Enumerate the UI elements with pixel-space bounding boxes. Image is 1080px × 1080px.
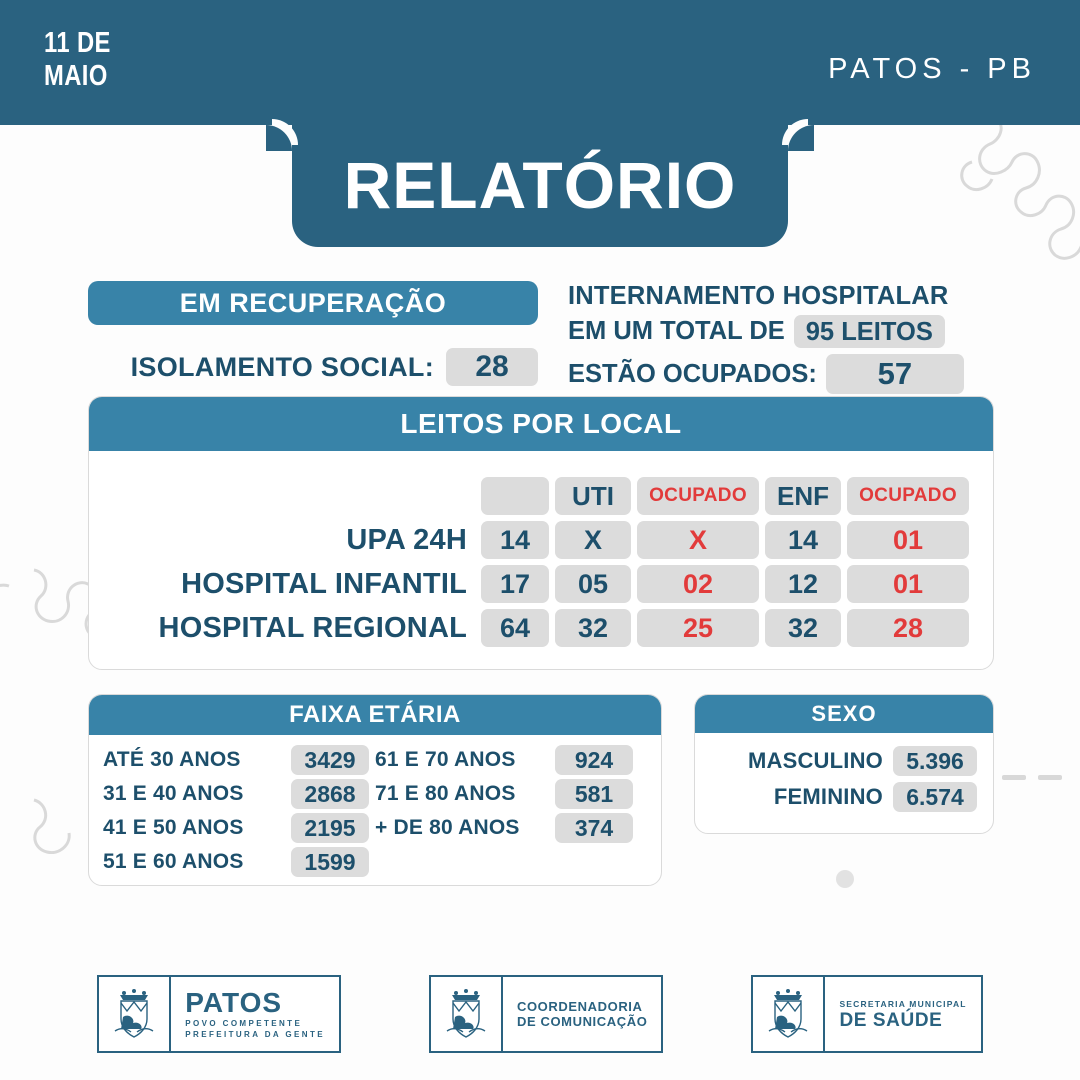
age-value: 2868 — [291, 779, 369, 809]
sex-value-feminino: 6.574 — [893, 782, 977, 812]
list-item: ATÉ 30 ANOS 3429 — [103, 743, 375, 777]
coat-of-arms-icon — [99, 977, 171, 1051]
coat-of-arms-icon — [431, 977, 503, 1051]
cell-enf: 32 — [765, 609, 841, 647]
col-enf-header: ENF — [765, 477, 841, 515]
logo-line-1: SECRETARIA MUNICIPAL — [839, 998, 966, 1010]
age-column-right: 61 E 70 ANOS 924 71 E 80 ANOS 581 + DE 8… — [375, 743, 647, 879]
cell-uti: 32 — [555, 609, 631, 647]
table-row: UPA 24H 14 X X 14 01 — [159, 521, 969, 559]
hospital-admission-block: INTERNAMENTO HOSPITALAR EM UM TOTAL DE 9… — [568, 281, 988, 394]
hospital-total-value: 95 LEITOS — [794, 315, 945, 348]
recovery-header: EM RECUPERAÇÃO — [88, 281, 538, 325]
report-date: 11 DE MAIO — [44, 27, 111, 93]
cell-uti: X — [555, 521, 631, 559]
footer-logos: PATOS POVO COMPETENTE PREFEITURA DA GENT… — [0, 975, 1080, 1053]
list-item: 71 E 80 ANOS 581 — [375, 777, 647, 811]
age-value: 1599 — [291, 847, 369, 877]
city-label: PATOS - PB — [828, 53, 1036, 86]
sex-card-title: SEXO — [695, 695, 993, 733]
cell-enf-ocupado: 01 — [847, 565, 969, 603]
cell-uti-ocupado: 25 — [637, 609, 759, 647]
hospital-occupied-label: ESTÃO OCUPADOS: — [568, 360, 817, 389]
coat-of-arms-icon — [753, 977, 825, 1051]
hospital-admission-title: INTERNAMENTO HOSPITALAR — [568, 281, 988, 311]
logo-line-1: COORDENADORIA — [517, 999, 643, 1014]
sex-label-feminino: FEMININO — [774, 784, 883, 810]
table-header-row: UTI OCUPADO ENF OCUPADO — [159, 477, 969, 515]
logo-prefeitura-patos: PATOS POVO COMPETENTE PREFEITURA DA GENT… — [97, 975, 341, 1053]
logo-tagline-1: POVO COMPETENTE — [185, 1018, 302, 1029]
age-label: 41 E 50 ANOS — [103, 816, 281, 840]
beds-card-title: LEITOS POR LOCAL — [89, 397, 993, 451]
age-value: 2195 — [291, 813, 369, 843]
age-label: 61 E 70 ANOS — [375, 748, 545, 772]
row-label-infantil: HOSPITAL INFANTIL — [159, 565, 475, 603]
report-infographic: 11 DE MAIO PATOS - PB RELATÓRIO EM RECUP… — [0, 0, 1080, 1080]
sex-grid: MASCULINO 5.396 FEMININO 6.574 — [695, 743, 993, 815]
cell-enf-ocupado: 01 — [847, 521, 969, 559]
cell-total: 17 — [481, 565, 549, 603]
cell-enf: 14 — [765, 521, 841, 559]
page-title: RELATÓRIO — [292, 125, 788, 245]
cell-uti-ocupado: 02 — [637, 565, 759, 603]
list-item: 41 E 50 ANOS 2195 — [103, 811, 375, 845]
title-plaque: RELATÓRIO — [292, 125, 788, 247]
list-item: 51 E 60 ANOS 1599 — [103, 845, 375, 879]
list-item: + DE 80 ANOS 374 — [375, 811, 647, 845]
cell-uti-ocupado: X — [637, 521, 759, 559]
cell-enf: 12 — [765, 565, 841, 603]
logo-text-coordenadoria: COORDENADORIA DE COMUNICAÇÃO — [503, 977, 661, 1051]
isolation-value: 28 — [446, 348, 538, 386]
row-label-upa: UPA 24H — [159, 521, 475, 559]
list-item: 31 E 40 ANOS 2868 — [103, 777, 375, 811]
age-label: 71 E 80 ANOS — [375, 782, 545, 806]
logo-text-patos: PATOS POVO COMPETENTE PREFEITURA DA GENT… — [171, 977, 339, 1051]
beds-by-location-card: LEITOS POR LOCAL UTI OCUPADO ENF OCUPADO… — [88, 396, 994, 670]
age-range-card: FAIXA ETÁRIA ATÉ 30 ANOS 3429 31 E 40 AN… — [88, 694, 662, 886]
age-value: 581 — [555, 779, 633, 809]
age-label: 51 E 60 ANOS — [103, 850, 281, 874]
col-total-header — [481, 477, 549, 515]
age-label: ATÉ 30 ANOS — [103, 748, 281, 772]
col-uti-header: UTI — [555, 477, 631, 515]
cell-uti: 05 — [555, 565, 631, 603]
age-label: 31 E 40 ANOS — [103, 782, 281, 806]
age-column-left: ATÉ 30 ANOS 3429 31 E 40 ANOS 2868 41 E … — [103, 743, 375, 879]
table-row: HOSPITAL REGIONAL 64 32 25 32 28 — [159, 609, 969, 647]
hospital-total-label: EM UM TOTAL DE — [568, 317, 785, 346]
table-row: HOSPITAL INFANTIL 17 05 02 12 01 — [159, 565, 969, 603]
cell-enf-ocupado: 28 — [847, 609, 969, 647]
decorative-dot — [836, 870, 854, 888]
age-label: + DE 80 ANOS — [375, 816, 545, 840]
hospital-occupied-value: 57 — [826, 354, 964, 394]
age-value: 3429 — [291, 745, 369, 775]
age-value: 924 — [555, 745, 633, 775]
cell-total: 14 — [481, 521, 549, 559]
logo-coordenadoria-comunicacao: COORDENADORIA DE COMUNICAÇÃO — [429, 975, 663, 1053]
isolation-label: ISOLAMENTO SOCIAL: — [131, 352, 434, 383]
age-grid: ATÉ 30 ANOS 3429 31 E 40 ANOS 2868 41 E … — [89, 743, 661, 879]
logo-line-2: DE SAÚDE — [839, 1010, 942, 1031]
cell-total: 64 — [481, 609, 549, 647]
decorative-dashes — [1002, 775, 1062, 780]
top-bar: 11 DE MAIO PATOS - PB — [0, 0, 1080, 125]
logo-name: PATOS — [185, 988, 282, 1018]
beds-table: UTI OCUPADO ENF OCUPADO UPA 24H 14 X X 1… — [153, 471, 975, 653]
sex-card: SEXO MASCULINO 5.396 FEMININO 6.574 — [694, 694, 994, 834]
age-card-title: FAIXA ETÁRIA — [89, 695, 661, 735]
age-value: 374 — [555, 813, 633, 843]
sex-label-masculino: MASCULINO — [748, 748, 883, 774]
list-item: MASCULINO 5.396 — [711, 743, 977, 779]
logo-line-2: DE COMUNICAÇÃO — [517, 1014, 647, 1029]
list-item: 61 E 70 ANOS 924 — [375, 743, 647, 777]
col-enf-ocupado-header: OCUPADO — [847, 477, 969, 515]
list-item: FEMININO 6.574 — [711, 779, 977, 815]
hospital-occupied-row: ESTÃO OCUPADOS: 57 — [568, 354, 988, 394]
isolation-row: ISOLAMENTO SOCIAL: 28 — [88, 348, 538, 386]
header-spacer — [159, 477, 475, 515]
row-label-regional: HOSPITAL REGIONAL — [159, 609, 475, 647]
sex-value-masculino: 5.396 — [893, 746, 977, 776]
col-uti-ocupado-header: OCUPADO — [637, 477, 759, 515]
logo-secretaria-saude: SECRETARIA MUNICIPAL DE SAÚDE — [751, 975, 982, 1053]
logo-tagline-2: PREFEITURA DA GENTE — [185, 1029, 325, 1040]
logo-text-saude: SECRETARIA MUNICIPAL DE SAÚDE — [825, 977, 980, 1051]
hospital-total-row: EM UM TOTAL DE 95 LEITOS — [568, 315, 988, 348]
